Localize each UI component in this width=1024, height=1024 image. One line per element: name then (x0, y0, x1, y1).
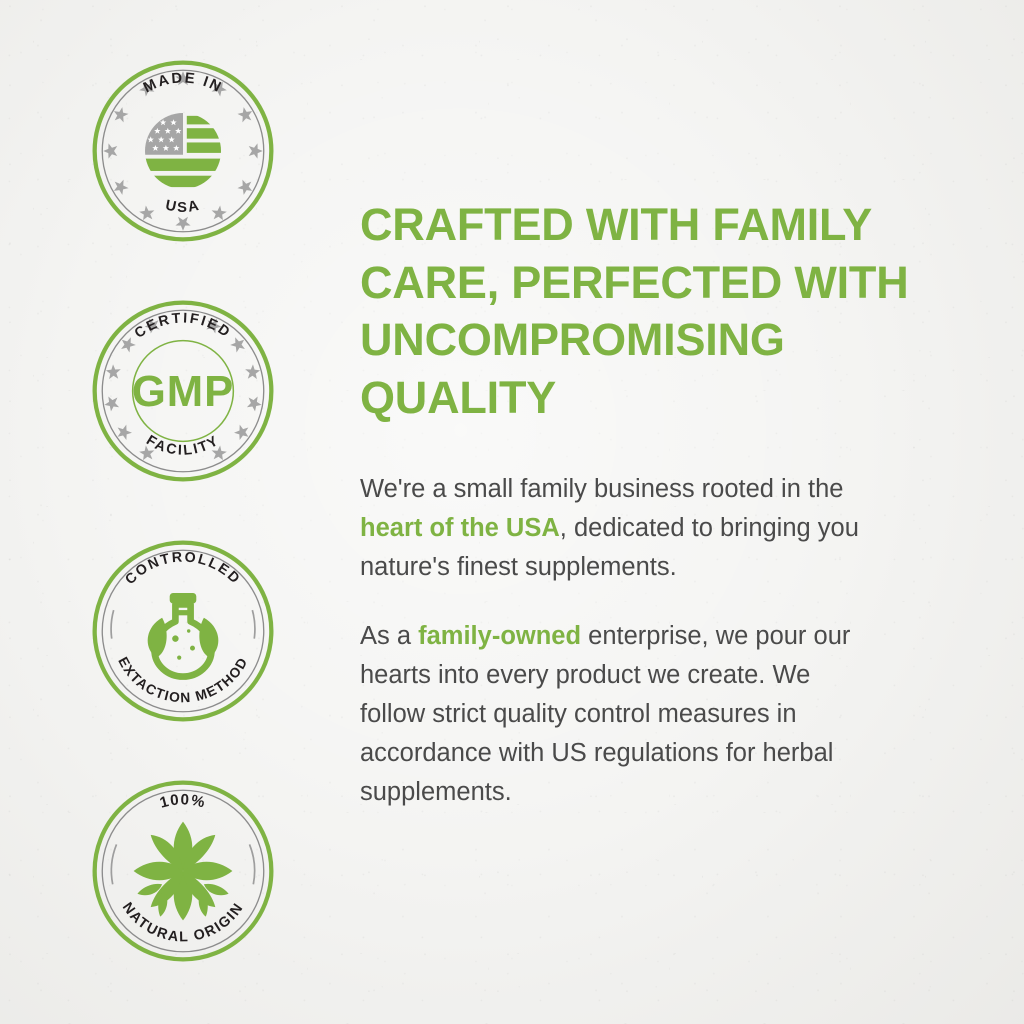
badge-controlled-extraction: CONTROLLED EXTACTION METHOD (88, 536, 278, 726)
page-headline: CRAFTED WITH FAMILY CARE, PERFECTED WITH… (360, 196, 912, 426)
gmp-text-icon: GMP (132, 367, 234, 416)
flask-leaves-icon (148, 593, 219, 677)
badge-top-label: 100% (158, 791, 208, 811)
badge-natural-origin: 100% NATURAL ORIGIN (88, 776, 278, 966)
badge-bottom-label: EXTACTION METHOD (115, 655, 251, 706)
badge-top-label: MADE IN (141, 70, 225, 96)
body-paragraph-2: As a family-owned enterprise, we pour ou… (360, 617, 880, 812)
arc-accent-right (252, 610, 255, 639)
content-column: CRAFTED WITH FAMILY CARE, PERFECTED WITH… (360, 196, 920, 812)
paragraph-2-part-1: As a (360, 622, 418, 650)
badge-made-in-usa: MADE IN USA (88, 56, 278, 246)
badge-top-label: CERTIFIED (132, 310, 234, 341)
badge-gmp-certified: GMP CERTIFIED FACILITY (88, 296, 278, 486)
infographic-page: MADE IN USA (0, 0, 1024, 1024)
badge-bottom-label: FACILITY (143, 432, 222, 458)
usa-flag-circle-icon (141, 113, 225, 189)
arc-accent-left (111, 610, 114, 639)
certification-badge-column: MADE IN USA (88, 56, 296, 1016)
body-paragraph-1: We're a small family business rooted in … (360, 470, 880, 587)
paragraph-2-highlight: family-owned (418, 622, 581, 650)
badge-bottom-label: USA (164, 198, 202, 216)
paragraph-1-part-1: We're a small family business rooted in … (360, 475, 843, 503)
arc-accent-left (111, 844, 116, 884)
leaf-rosette-icon (134, 822, 233, 921)
paragraph-1-highlight: heart of the USA (360, 514, 560, 542)
arc-accent-right (250, 844, 255, 884)
